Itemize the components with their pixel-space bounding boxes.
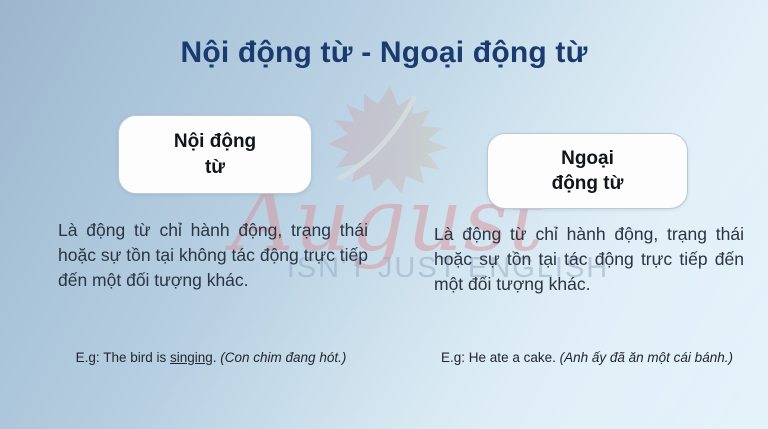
example-intransitive-translation: (Con chim đang hót.): [220, 350, 346, 365]
card-transitive-label: Ngoại động từ: [552, 146, 624, 196]
example-transitive: E.g: He ate a cake. (Anh ấy đã ăn một cá…: [428, 348, 746, 368]
slide-canvas: August ISN'T JUST ENGLISH Nội động từ - …: [0, 0, 768, 429]
card-transitive-verb[interactable]: Ngoại động từ: [487, 133, 688, 209]
column-intransitive: Nội động từ Là động từ chỉ hành động, tr…: [30, 100, 370, 410]
card-intransitive-label-line2: từ: [205, 157, 225, 178]
example-intransitive-prefix: E.g: The bird is: [76, 350, 170, 365]
card-transitive-label-line2: động từ: [552, 173, 624, 194]
example-transitive-prefix: E.g: He ate a cake.: [441, 350, 560, 365]
card-intransitive-label: Nội động từ: [174, 129, 256, 179]
card-intransitive-verb[interactable]: Nội động từ: [118, 115, 312, 194]
example-intransitive-highlight: singing: [170, 350, 213, 365]
card-intransitive-label-line1: Nội động: [174, 131, 256, 152]
card-transitive-label-line1: Ngoại: [561, 148, 614, 169]
column-transitive: Ngoại động từ Là động từ chỉ hành động, …: [400, 100, 740, 410]
description-transitive: Là động từ chỉ hành động, trạng thái hoặ…: [434, 222, 744, 297]
example-intransitive: E.g: The bird is singing. (Con chim đang…: [52, 348, 370, 368]
example-transitive-translation: (Anh ấy đã ăn một cái bánh.): [560, 350, 733, 365]
page-title: Nội động từ - Ngoại động từ: [0, 36, 768, 70]
description-intransitive: Là động từ chỉ hành động, trạng thái hoặ…: [58, 218, 368, 293]
